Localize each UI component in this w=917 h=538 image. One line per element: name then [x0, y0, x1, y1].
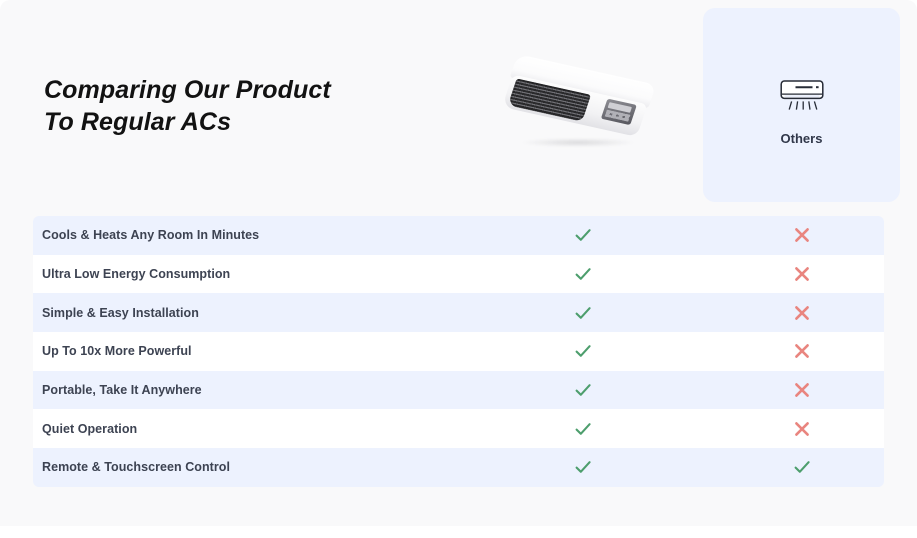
- feature-label: Up To 10x More Powerful: [42, 344, 192, 358]
- product-image-stage: [498, 52, 662, 164]
- product-image: [498, 52, 662, 164]
- others-cross-icon: [787, 298, 817, 328]
- page-title-line-2: To Regular ACs: [44, 106, 464, 138]
- product-ac-unit-icon: [498, 54, 656, 144]
- ours-check-icon: [568, 414, 598, 444]
- table-row: Simple & Easy Installation: [33, 293, 884, 332]
- table-row: Ultra Low Energy Consumption: [33, 255, 884, 294]
- others-column-header: Others: [703, 8, 900, 202]
- table-row: Portable, Take It Anywhere: [33, 371, 884, 410]
- ours-check-icon: [568, 298, 598, 328]
- feature-label: Portable, Take It Anywhere: [42, 383, 202, 397]
- feature-label: Cools & Heats Any Room In Minutes: [42, 228, 259, 242]
- feature-label: Quiet Operation: [42, 422, 137, 436]
- feature-label: Ultra Low Energy Consumption: [42, 267, 230, 281]
- ours-check-icon: [568, 452, 598, 482]
- page-title-line-1: Comparing Our Product: [44, 74, 464, 106]
- comparison-page: Comparing Our Product To Regular ACs: [0, 0, 917, 538]
- others-column-label: Others: [703, 131, 900, 146]
- others-cross-icon: [787, 220, 817, 250]
- comparison-table: Cools & Heats Any Room In MinutesUltra L…: [33, 216, 884, 487]
- ours-check-icon: [568, 375, 598, 405]
- table-row: Cools & Heats Any Room In Minutes: [33, 216, 884, 255]
- others-cross-icon: [787, 259, 817, 289]
- page-title: Comparing Our Product To Regular ACs: [44, 74, 464, 138]
- ours-check-icon: [568, 259, 598, 289]
- table-row: Up To 10x More Powerful: [33, 332, 884, 371]
- feature-label: Simple & Easy Installation: [42, 306, 199, 320]
- others-check-icon: [787, 452, 817, 482]
- table-row: Quiet Operation: [33, 409, 884, 448]
- ours-check-icon: [568, 220, 598, 250]
- feature-label: Remote & Touchscreen Control: [42, 460, 230, 474]
- split-ac-unit-icon: [779, 78, 825, 114]
- others-cross-icon: [787, 414, 817, 444]
- table-row: Remote & Touchscreen Control: [33, 448, 884, 487]
- others-cross-icon: [787, 336, 817, 366]
- table-bottom-filler: [0, 487, 917, 526]
- product-drop-shadow: [522, 138, 634, 147]
- others-cross-icon: [787, 375, 817, 405]
- ours-check-icon: [568, 336, 598, 366]
